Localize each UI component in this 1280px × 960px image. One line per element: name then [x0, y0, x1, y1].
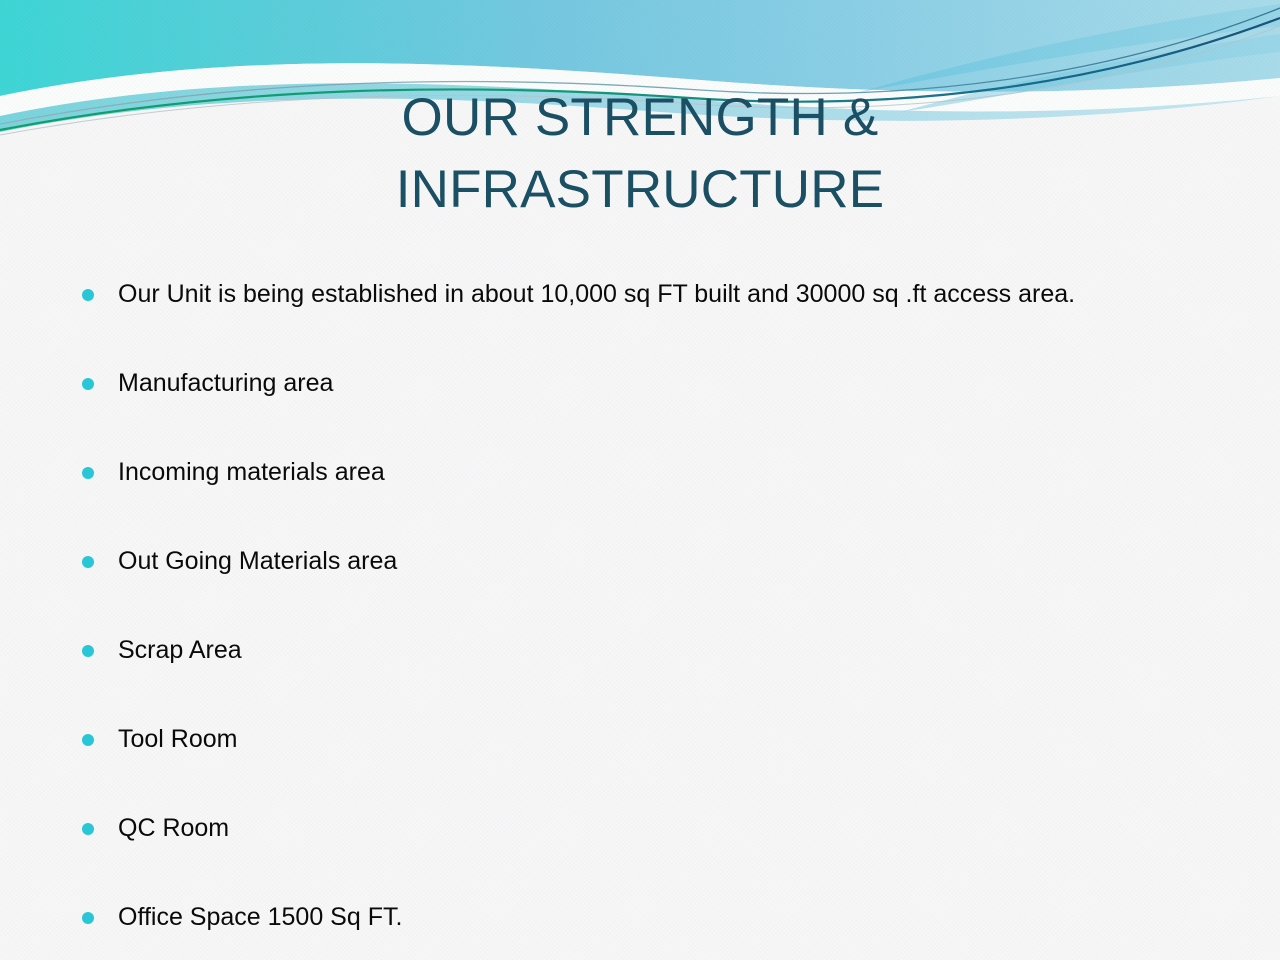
- list-item: Tool Room: [72, 703, 1212, 776]
- list-item: Incoming materials area: [72, 436, 1212, 509]
- list-item-label: Incoming materials area: [118, 436, 1212, 509]
- bullet-dot-icon: [82, 289, 94, 301]
- list-item-label: Our Unit is being established in about 1…: [118, 258, 1158, 331]
- content-bullet-list: Our Unit is being established in about 1…: [72, 258, 1212, 954]
- bullet-dot-icon: [82, 823, 94, 835]
- slide-canvas: OUR STRENGTH & INFRASTRUCTURE Our Unit i…: [0, 0, 1280, 960]
- list-item-label: Manufacturing area: [118, 347, 1212, 420]
- list-item: Manufacturing area: [72, 347, 1212, 420]
- bullet-dot-icon: [82, 645, 94, 657]
- list-item: Scrap Area: [72, 614, 1212, 687]
- list-item-label: QC Room: [118, 792, 1212, 865]
- list-item: QC Room: [72, 792, 1212, 865]
- title-line-2: INFRASTRUCTURE: [0, 154, 1280, 226]
- slide-title-heading: OUR STRENGTH & INFRASTRUCTURE: [0, 82, 1280, 226]
- list-item-label: Tool Room: [118, 703, 1212, 776]
- list-item: Office Space 1500 Sq FT.: [72, 881, 1212, 954]
- bullet-dot-icon: [82, 912, 94, 924]
- list-item-label: Scrap Area: [118, 614, 1212, 687]
- bullet-dot-icon: [82, 467, 94, 479]
- bullet-dot-icon: [82, 556, 94, 568]
- list-item-label: Office Space 1500 Sq FT.: [118, 881, 1212, 954]
- list-item-label: Out Going Materials area: [118, 525, 1212, 598]
- bullet-dot-icon: [82, 734, 94, 746]
- page-title: OUR STRENGTH & INFRASTRUCTURE: [0, 82, 1280, 226]
- bullet-dot-icon: [82, 378, 94, 390]
- list-item: Our Unit is being established in about 1…: [72, 258, 1212, 331]
- title-line-1: OUR STRENGTH &: [0, 82, 1280, 154]
- list-item: Out Going Materials area: [72, 525, 1212, 598]
